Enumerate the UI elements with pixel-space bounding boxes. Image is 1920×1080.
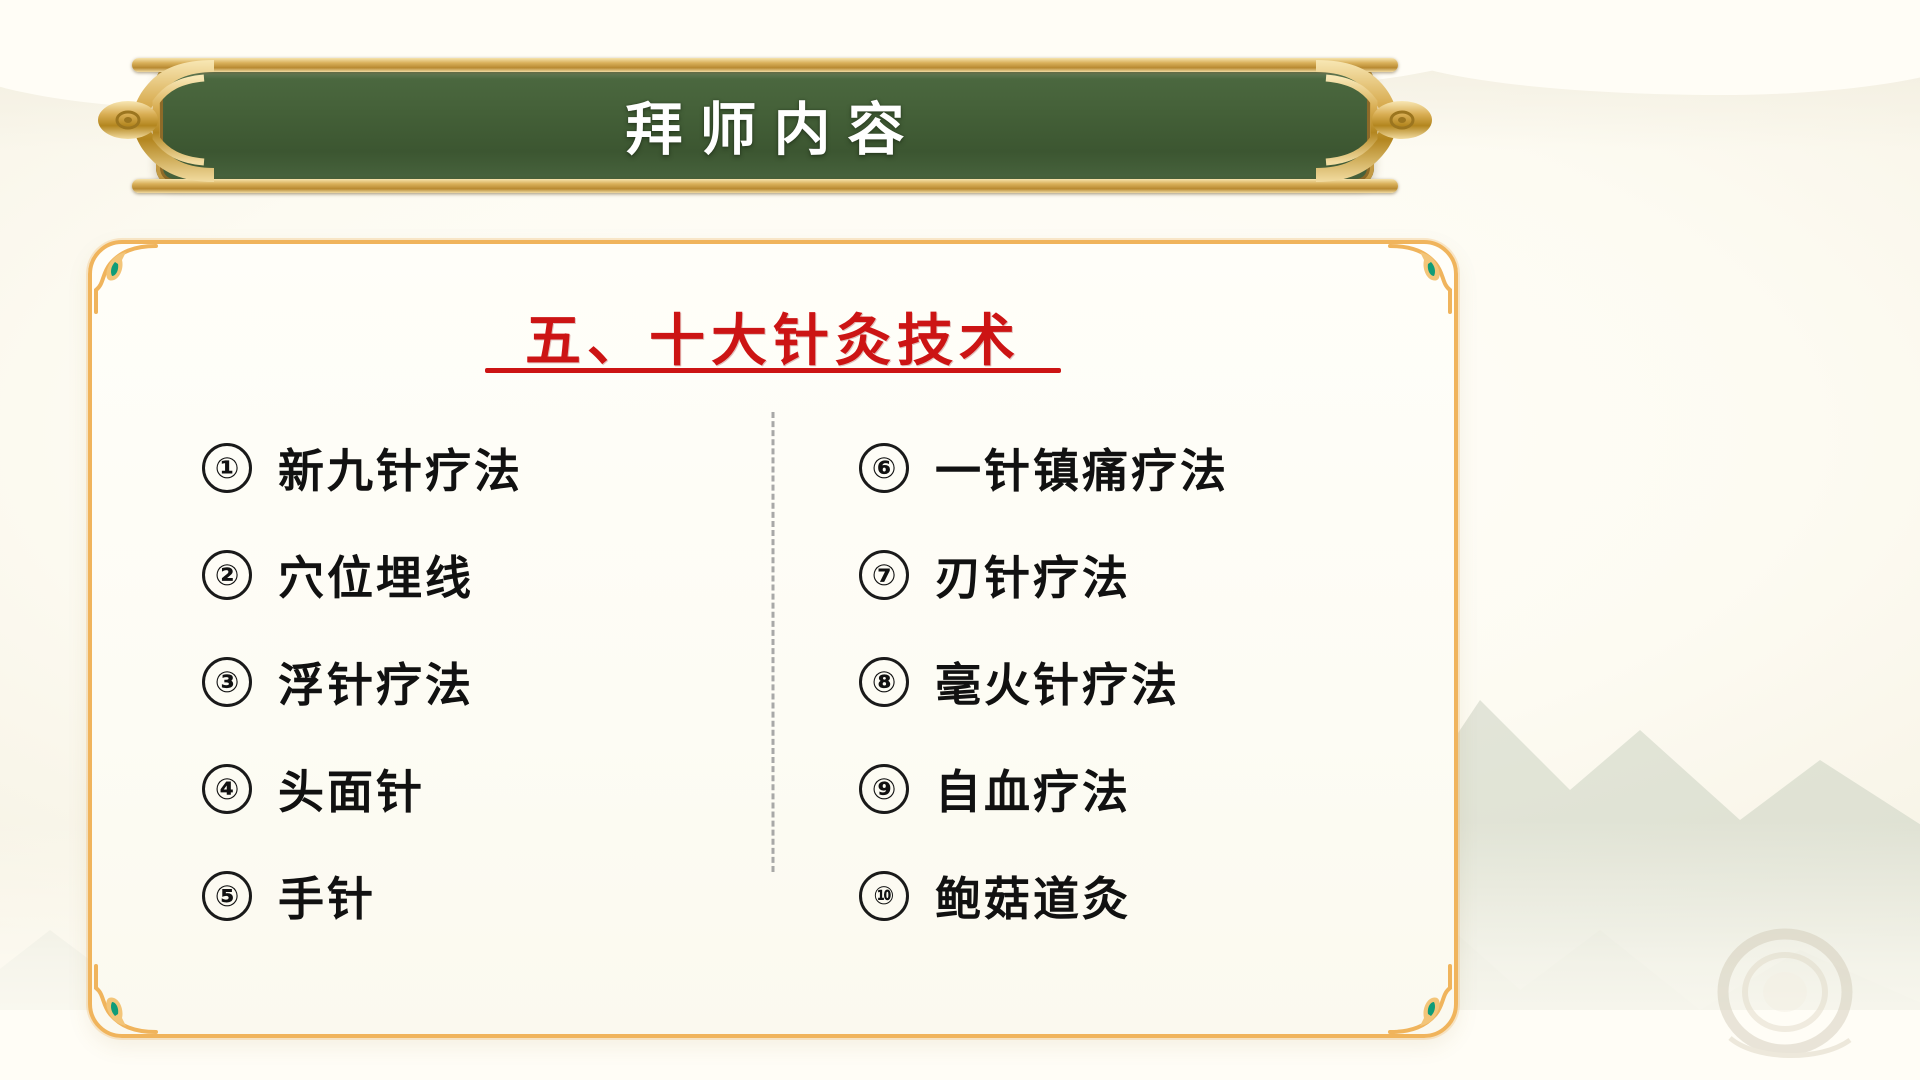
list-item-number: ⑥ (859, 443, 909, 493)
list-item-number: ④ (202, 764, 252, 814)
list-item-label: 一针镇痛疗法 (935, 435, 1229, 501)
list-item[interactable]: ⑧ 毫火针疗法 (859, 638, 1454, 726)
list-item-number: ⑤ (202, 871, 252, 921)
list-item-label: 刃针疗法 (935, 542, 1131, 608)
card-corner-ornament-icon (86, 962, 164, 1040)
list-item-label: 自血疗法 (935, 756, 1131, 822)
slide: 拜师内容 (0, 0, 1920, 1080)
list-item-label: 浮针疗法 (278, 649, 474, 715)
list-item[interactable]: ⑨ 自血疗法 (859, 745, 1454, 833)
list-item[interactable]: ③ 浮针疗法 (202, 638, 797, 726)
list-item[interactable]: ⑦ 刃针疗法 (859, 531, 1454, 619)
list-item-label: 手针 (278, 863, 376, 929)
list-item[interactable]: ⑤ 手针 (202, 852, 797, 940)
list-item-label: 头面针 (278, 756, 425, 822)
list-item[interactable]: ② 穴位埋线 (202, 531, 797, 619)
list-item-label: 穴位埋线 (278, 542, 474, 608)
list-item-number: ⑩ (859, 871, 909, 921)
list-item-label: 新九针疗法 (278, 435, 523, 501)
technique-lists: ① 新九针疗法 ② 穴位埋线 ③ 浮针疗法 ④ 头面针 ⑤ 手针 (92, 424, 1454, 959)
list-column-right: ⑥ 一针镇痛疗法 ⑦ 刃针疗法 ⑧ 毫火针疗法 ⑨ 自血疗法 ⑩ 鲍菇道灸 (797, 424, 1454, 959)
list-column-left: ① 新九针疗法 ② 穴位埋线 ③ 浮针疗法 ④ 头面针 ⑤ 手针 (92, 424, 797, 959)
list-item-number: ⑦ (859, 550, 909, 600)
list-item-number: ③ (202, 657, 252, 707)
card-corner-ornament-icon (1382, 962, 1460, 1040)
list-item-number: ① (202, 443, 252, 493)
list-item[interactable]: ① 新九针疗法 (202, 424, 797, 512)
content-card: 五、十大针灸技术 ① 新九针疗法 ② 穴位埋线 ③ 浮针疗法 ④ (88, 240, 1458, 1038)
section-title-underline (485, 368, 1061, 373)
list-item-number: ② (202, 550, 252, 600)
page-title: 拜师内容 (156, 64, 1374, 186)
list-item[interactable]: ⑩ 鲍菇道灸 (859, 852, 1454, 940)
list-item[interactable]: ⑥ 一针镇痛疗法 (859, 424, 1454, 512)
section-title: 五、十大针灸技术 (92, 296, 1454, 377)
list-item-number: ⑨ (859, 764, 909, 814)
list-item-number: ⑧ (859, 657, 909, 707)
jade-ring-logo-icon (1700, 920, 1870, 1070)
list-item-label: 鲍菇道灸 (935, 863, 1131, 929)
title-plaque: 拜师内容 (96, 58, 1434, 193)
list-item-label: 毫火针疗法 (935, 649, 1180, 715)
list-item[interactable]: ④ 头面针 (202, 745, 797, 833)
